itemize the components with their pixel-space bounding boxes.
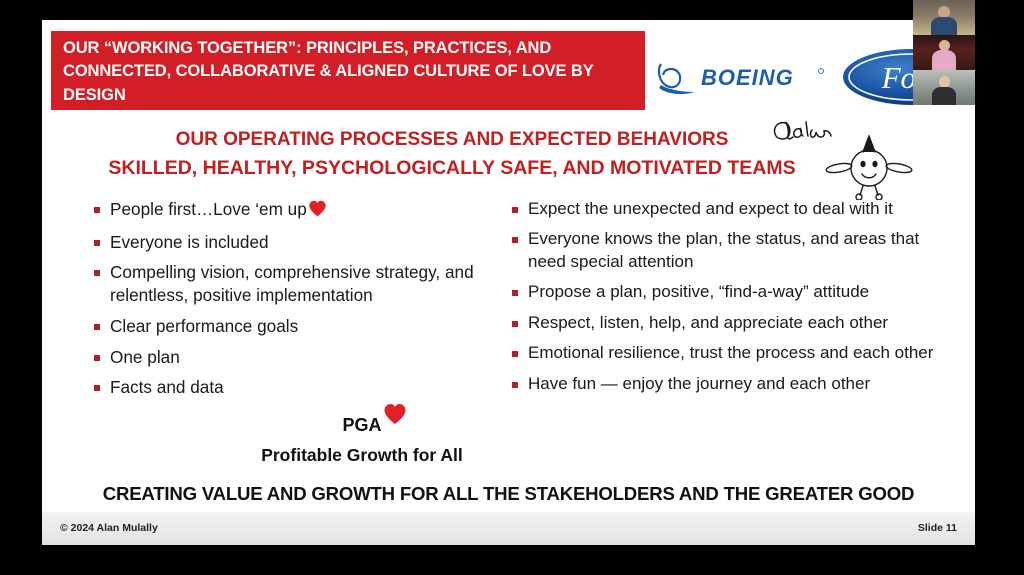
svg-text:BOEING: BOEING (701, 65, 794, 90)
pga-block: PGA Profitable Growth for All (42, 415, 682, 466)
bullet-item: Propose a plan, positive, “find-a-way” a… (512, 281, 942, 303)
bullet-marker-icon (512, 290, 518, 296)
bullet-item: People first…Love ‘em up (94, 198, 494, 223)
bullet-text: Propose a plan, positive, “find-a-way” a… (528, 281, 869, 303)
presentation-slide: OUR “WORKING TOGETHER”: PRINCIPLES, PRAC… (42, 20, 975, 545)
pga-expansion: Profitable Growth for All (42, 445, 682, 466)
bullet-item: Emotional resilience, trust the process … (512, 342, 942, 364)
participant-tile-2[interactable] (913, 35, 975, 70)
slide-number: Slide 11 (918, 522, 957, 534)
bullet-item: Compelling vision, comprehensive strateg… (94, 261, 494, 306)
bullet-text: Everyone is included (110, 231, 269, 254)
bullet-marker-icon (512, 351, 518, 357)
video-participant-strip (913, 0, 975, 105)
participant-tile-1[interactable] (913, 0, 975, 35)
copyright-text: © 2024 Alan Mulally (60, 522, 158, 534)
bullet-text: Clear performance goals (110, 315, 298, 338)
bullet-text: Compelling vision, comprehensive strateg… (110, 261, 494, 306)
bullet-text: Everyone knows the plan, the status, and… (528, 228, 942, 273)
bullet-item: Respect, listen, help, and appreciate ea… (512, 312, 942, 334)
bullet-item: Facts and data (94, 376, 494, 399)
bullet-marker-icon (512, 382, 518, 388)
bullet-marker-icon (512, 321, 518, 327)
subtitle-line-2: SKILLED, HEALTHY, PSYCHOLOGICALLY SAFE, … (42, 154, 862, 183)
bullet-text: People first…Love ‘em up (110, 198, 327, 223)
heart-icon (308, 200, 327, 223)
bullet-text: Respect, listen, help, and appreciate ea… (528, 312, 888, 334)
bullet-item: Expect the unexpected and expect to deal… (512, 198, 942, 220)
bullet-text: One plan (110, 346, 180, 369)
bullet-marker-icon (94, 207, 100, 213)
heart-icon (383, 403, 407, 430)
bullet-text: Emotional resilience, trust the process … (528, 342, 933, 364)
slide-title-text: OUR “WORKING TOGETHER”: PRINCIPLES, PRAC… (63, 37, 635, 107)
bullet-item: Everyone is included (94, 231, 494, 254)
slide-subtitle: OUR OPERATING PROCESSES AND EXPECTED BEH… (42, 126, 862, 183)
bullet-marker-icon (94, 270, 100, 276)
bullet-marker-icon (512, 207, 518, 213)
bullet-item: Everyone knows the plan, the status, and… (512, 228, 942, 273)
bullet-text: Have fun — enjoy the journey and each ot… (528, 373, 870, 395)
participant-tile-3[interactable] (913, 70, 975, 105)
boeing-logo: BOEING (655, 58, 830, 98)
bullet-marker-icon (512, 237, 518, 243)
slide-title-banner: OUR “WORKING TOGETHER”: PRINCIPLES, PRAC… (51, 31, 645, 110)
bullet-marker-icon (94, 240, 100, 246)
bullet-column-right: Expect the unexpected and expect to deal… (512, 198, 942, 403)
bullet-column-left: People first…Love ‘em upEveryone is incl… (94, 198, 494, 407)
bullet-item: One plan (94, 346, 494, 369)
subtitle-line-1: OUR OPERATING PROCESSES AND EXPECTED BEH… (42, 126, 862, 154)
bullet-marker-icon (94, 324, 100, 330)
pga-acronym-wrap: PGA (342, 415, 381, 436)
screen-capture: OUR “WORKING TOGETHER”: PRINCIPLES, PRAC… (0, 0, 1024, 575)
slide-tagline: CREATING VALUE AND GROWTH FOR ALL THE ST… (42, 483, 975, 505)
bullet-text: Expect the unexpected and expect to deal… (528, 198, 893, 220)
pga-acronym: PGA (342, 415, 381, 435)
bullet-text: Facts and data (110, 376, 224, 399)
bullet-marker-icon (94, 355, 100, 361)
slide-footer: © 2024 Alan Mulally Slide 11 (42, 512, 975, 545)
bullet-item: Have fun — enjoy the journey and each ot… (512, 373, 942, 395)
bullet-item: Clear performance goals (94, 315, 494, 338)
bullet-marker-icon (94, 385, 100, 391)
